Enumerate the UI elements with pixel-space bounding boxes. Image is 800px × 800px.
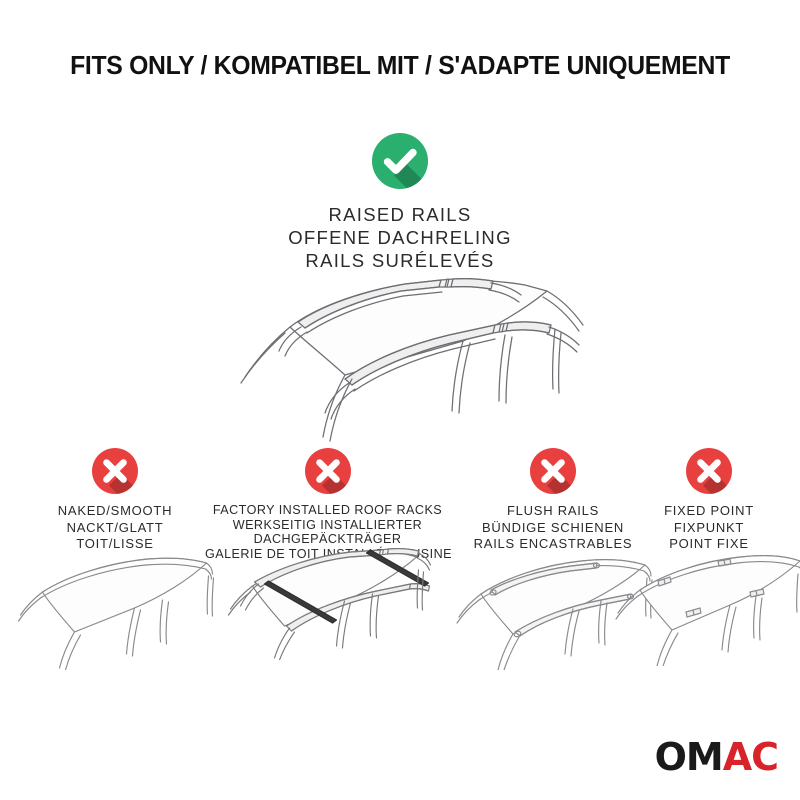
incompatible-item-flush-rails: FLUSH RAILS BÜNDIGE SCHIENEN RAILS ENCAS… (455, 448, 651, 553)
raised-rails-illustration (195, 275, 615, 460)
label-line-1: FIXED POINT (638, 503, 780, 520)
compatibility-infographic: FITS ONLY / KOMPATIBEL MIT / S'ADAPTE UN… (0, 0, 800, 800)
incompatible-label-fixed-point: FIXED POINT FIXPUNKT POINT FIXE (638, 503, 780, 553)
incompatible-label-flush-rails: FLUSH RAILS BÜNDIGE SCHIENEN RAILS ENCAS… (455, 503, 651, 553)
incompatible-label-naked-smooth: NAKED/SMOOTH NACKT/GLATT TOIT/LISSE (15, 503, 215, 553)
omac-logo: OMAC (655, 738, 778, 776)
naked-smooth-illustration (13, 552, 218, 670)
incompatible-item-factory-roof-racks: FACTORY INSTALLED ROOF RACKS WERKSEITIG … (205, 448, 450, 561)
label-line-2: WERKSEITIG INSTALLIERTER (205, 518, 450, 533)
x-circle-icon (530, 448, 576, 494)
incompatible-item-fixed-point: FIXED POINT FIXPUNKT POINT FIXE (638, 448, 780, 553)
label-line-1: FLUSH RAILS (455, 503, 651, 520)
compatible-label-line-2: OFFENE DACHRELING (0, 226, 800, 249)
incompatible-item-naked-smooth: NAKED/SMOOTH NACKT/GLATT TOIT/LISSE (15, 448, 215, 553)
compatible-label-line-1: RAISED RAILS (0, 203, 800, 226)
label-line-1: NAKED/SMOOTH (15, 503, 215, 520)
logo-text-dark: OM (655, 735, 723, 779)
compatible-section: RAISED RAILS OFFENE DACHRELING RAILS SUR… (0, 133, 800, 272)
logo-text-red: AC (723, 735, 778, 779)
label-line-1: FACTORY INSTALLED ROOF RACKS (205, 503, 450, 518)
x-circle-icon (305, 448, 351, 494)
label-line-2: NACKT/GLATT (15, 520, 215, 537)
x-circle-icon (92, 448, 138, 494)
fixed-point-illustration (614, 548, 800, 666)
compatible-label: RAISED RAILS OFFENE DACHRELING RAILS SUR… (0, 203, 800, 272)
compatible-label-line-3: RAILS SURÉLEVÉS (0, 249, 800, 272)
label-line-3: TOIT/LISSE (15, 536, 215, 553)
page-title: FITS ONLY / KOMPATIBEL MIT / S'ADAPTE UN… (12, 52, 788, 81)
check-circle-icon (372, 133, 428, 189)
x-circle-icon (686, 448, 732, 494)
label-line-2: BÜNDIGE SCHIENEN (455, 520, 651, 537)
factory-roof-rack-illustration (220, 542, 435, 660)
label-line-2: FIXPUNKT (638, 520, 780, 537)
incompatible-section: NAKED/SMOOTH NACKT/GLATT TOIT/LISSE (0, 448, 800, 658)
